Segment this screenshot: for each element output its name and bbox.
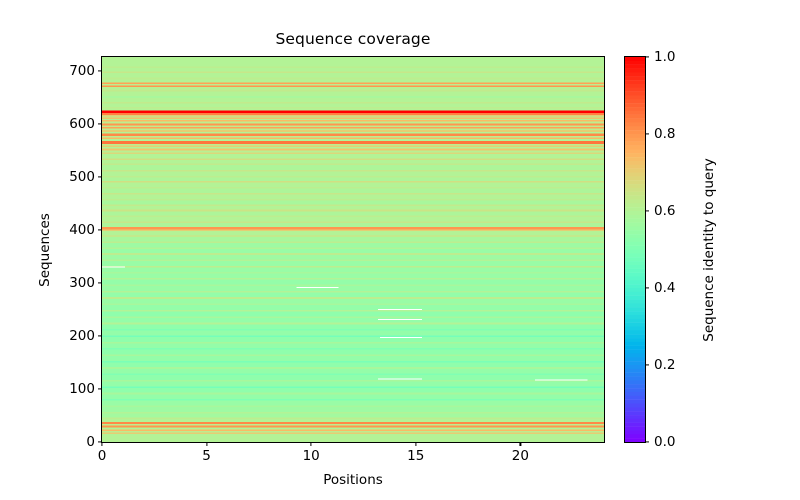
colorbar-tick-mark [645,364,649,365]
y-tick-mark [98,176,102,177]
x-axis-label: Positions [101,472,605,488]
y-tick-mark [98,123,102,124]
y-tick-mark [98,388,102,389]
colorbar-tick-label: 0.0 [645,434,675,450]
x-tick-mark [520,442,521,446]
figure-canvas: Sequence coverage Sequences 010020030040… [0,0,800,500]
colorbar: 0.00.20.40.60.81.0 [624,56,646,443]
colorbar-label-text: Sequence identity to query [701,158,717,342]
colorbar-label: Sequence identity to query [700,56,718,443]
y-tick-label: 500 [35,169,102,185]
colorbar-tick-label: 0.8 [645,126,675,142]
y-tick-mark [98,70,102,71]
colorbar-tick-mark [645,441,649,442]
y-tick-label: 400 [35,222,102,238]
colorbar-tick-mark [645,287,649,288]
colorbar-tick-mark [645,133,649,134]
colorbar-tick-label: 0.2 [645,357,675,373]
colorbar-tick-mark [645,210,649,211]
colorbar-tick-mark [645,56,649,57]
y-tick-label: 300 [35,275,102,291]
heatmap-axes: 0100200300400500600700 05101520 [101,56,605,443]
y-tick-mark [98,282,102,283]
x-tick-mark [311,442,312,446]
colorbar-gradient [625,57,645,442]
y-tick-label: 100 [35,381,102,397]
colorbar-tick-label: 1.0 [645,49,675,65]
y-tick-label: 0 [35,434,102,450]
x-tick-mark [206,442,207,446]
y-tick-label: 200 [35,328,102,344]
chart-title: Sequence coverage [101,30,605,48]
x-tick-mark [415,442,416,446]
y-tick-mark [98,335,102,336]
y-tick-mark [98,229,102,230]
y-tick-label: 700 [35,63,102,79]
heatmap-image [102,57,604,442]
colorbar-tick-label: 0.4 [645,280,675,296]
y-tick-label: 600 [35,116,102,132]
x-tick-mark [101,442,102,446]
colorbar-tick-label: 0.6 [645,203,675,219]
